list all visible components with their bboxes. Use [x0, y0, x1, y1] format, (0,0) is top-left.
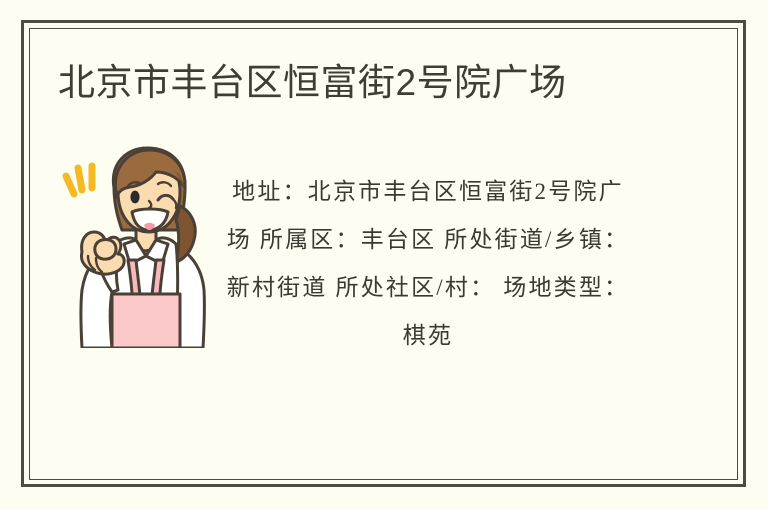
- venue-info-block: 地址：北京市丰台区恒富街2号院广场 所属区：丰台区 所处街道/乡镇：新村街道 所…: [224, 168, 632, 360]
- cartoon-woman-ok-gesture-illustration: [52, 140, 220, 348]
- venue-info-text: 地址：北京市丰台区恒富街2号院广场 所属区：丰台区 所处街道/乡镇：新村街道 所…: [227, 179, 630, 348]
- ok-circle: [95, 239, 116, 259]
- sparkle-line-left: [66, 176, 74, 194]
- poster-page: 北京市丰台区恒富街2号院广场: [0, 0, 768, 510]
- apron-body: [112, 294, 180, 348]
- page-title: 北京市丰台区恒富街2号院广场: [58, 58, 567, 108]
- hair-ponytail: [176, 206, 195, 262]
- sparkle-line-middle: [78, 168, 82, 190]
- eye-left: [130, 191, 139, 204]
